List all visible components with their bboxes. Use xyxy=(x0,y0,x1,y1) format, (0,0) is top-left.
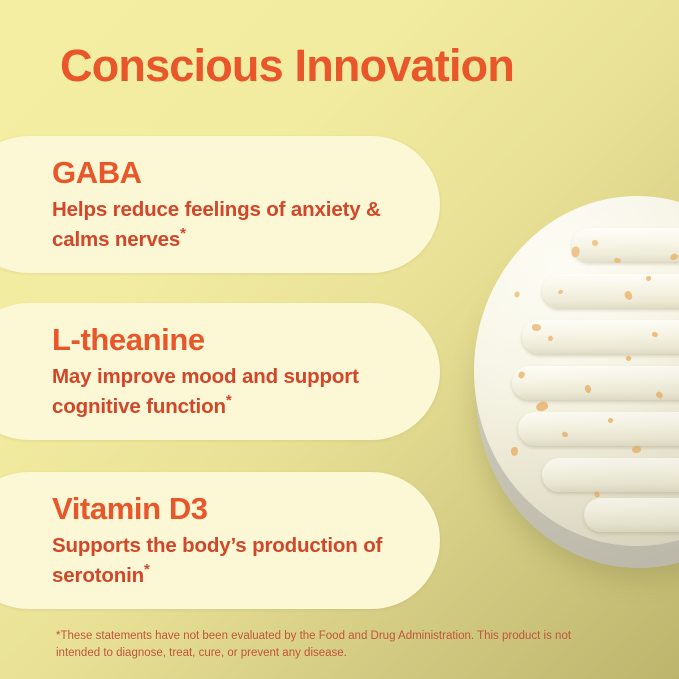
benefit-description-text: Helps reduce feelings of anxiety & calms… xyxy=(52,198,381,250)
benefit-card-content: L-theanine May improve mood and support … xyxy=(52,303,400,440)
benefit-title: GABA xyxy=(52,156,400,191)
lid-ridge xyxy=(518,412,679,446)
lid-ridge xyxy=(542,458,679,492)
terrazzo-fleck xyxy=(532,324,541,331)
fda-disclaimer: *These statements have not been evaluate… xyxy=(56,628,604,663)
benefit-card-content: Vitamin D3 Supports the body’s productio… xyxy=(52,472,400,609)
benefit-title: Vitamin D3 xyxy=(52,492,400,527)
benefit-card-l-theanine: L-theanine May improve mood and support … xyxy=(0,303,440,440)
footnote-marker: * xyxy=(144,561,150,578)
benefit-title: L-theanine xyxy=(52,323,400,358)
benefit-description: Helps reduce feelings of anxiety & calms… xyxy=(52,197,400,253)
lid-ridge xyxy=(512,366,679,400)
benefit-description: Supports the body’s production of seroto… xyxy=(52,533,400,589)
benefit-card-vitamin-d3: Vitamin D3 Supports the body’s productio… xyxy=(0,472,440,609)
jar-lid-ridges xyxy=(498,226,679,518)
lid-ridge xyxy=(584,498,679,532)
benefit-card-gaba: GABA Helps reduce feelings of anxiety & … xyxy=(0,136,440,273)
benefit-description-text: May improve mood and support cognitive f… xyxy=(52,365,359,417)
jar-lid xyxy=(474,196,679,546)
footnote-marker: * xyxy=(226,392,232,409)
footnote-marker: * xyxy=(180,225,186,242)
benefit-description: May improve mood and support cognitive f… xyxy=(52,364,400,420)
benefit-description-text: Supports the body’s production of seroto… xyxy=(52,534,382,586)
product-jar-image xyxy=(474,196,679,568)
benefit-card-content: GABA Helps reduce feelings of anxiety & … xyxy=(52,136,400,273)
page-title: Conscious Innovation xyxy=(60,42,660,89)
marketing-poster: Conscious Innovation GABA Helps reduce f… xyxy=(0,0,679,679)
lid-ridge xyxy=(572,228,679,262)
